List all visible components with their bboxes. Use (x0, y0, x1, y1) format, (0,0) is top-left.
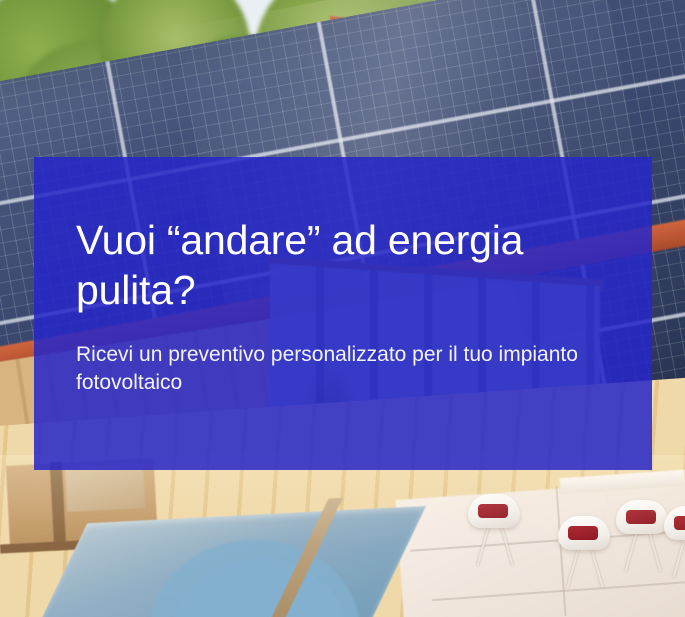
chair-cushion (478, 504, 508, 518)
chair-seat (468, 494, 520, 528)
chair-cushion (626, 510, 656, 524)
solar-energy-hero-banner: Vuoi “andare” ad energia pulita? Ricevi … (0, 0, 685, 617)
chair-cushion (568, 526, 598, 540)
patio-paving (396, 476, 685, 617)
hero-text-overlay: Vuoi “andare” ad energia pulita? Ricevi … (34, 157, 652, 470)
chair-seat (616, 500, 668, 534)
hero-headline: Vuoi “andare” ad energia pulita? (76, 215, 612, 315)
hero-subheadline: Ricevi un preventivo personalizzato per … (76, 341, 596, 396)
chair-cushion (674, 516, 685, 530)
door-glass-pane (65, 464, 145, 512)
chair-seat (558, 516, 610, 550)
